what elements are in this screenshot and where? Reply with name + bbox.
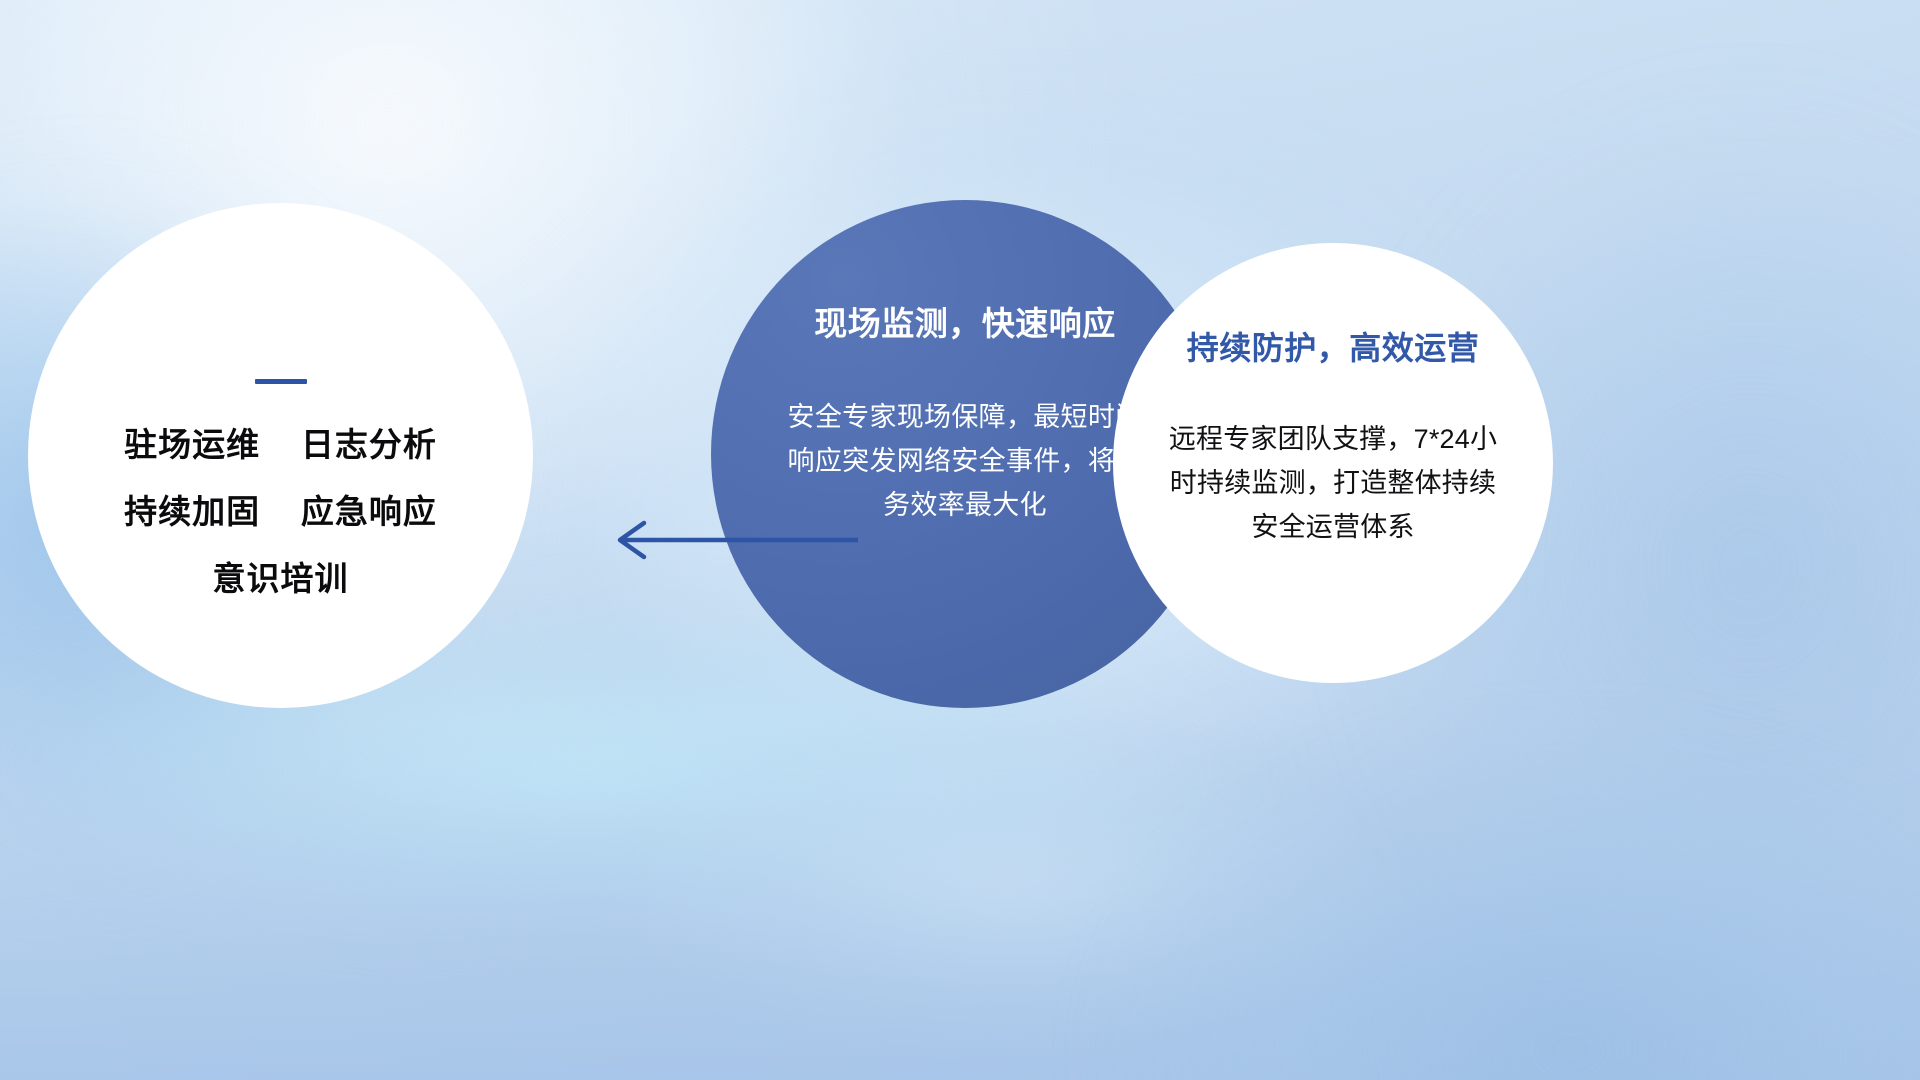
right-circle-card[interactable]: 持续防护，高效运营 远程专家团队支撑，7*24小时持续监测，打造整体持续安全运营… xyxy=(1113,243,1553,683)
left-circle-line-1: 驻场运维 日志分析 xyxy=(28,428,533,461)
right-circle-content: 持续防护，高效运营 远程专家团队支撑，7*24小时持续监测，打造整体持续安全运营… xyxy=(1113,331,1553,549)
slide-canvas: 现场监测，快速响应 安全专家现场保障，最短时间响应突发网络安全事件，将服务效率最… xyxy=(0,0,1920,1080)
left-circle-content: 驻场运维 日志分析 持续加固 应急响应 意识培训 xyxy=(28,379,533,595)
right-circle-body: 远程专家团队支撑，7*24小时持续监测，打造整体持续安全运营体系 xyxy=(1113,418,1553,549)
right-circle-title: 持续防护，高效运营 xyxy=(1113,331,1553,366)
left-circle-line-3: 意识培训 xyxy=(28,562,533,595)
left-circle-card[interactable]: 驻场运维 日志分析 持续加固 应急响应 意识培训 xyxy=(28,203,533,708)
left-circle-line-2: 持续加固 应急响应 xyxy=(28,495,533,528)
left-circle-divider xyxy=(255,379,307,384)
